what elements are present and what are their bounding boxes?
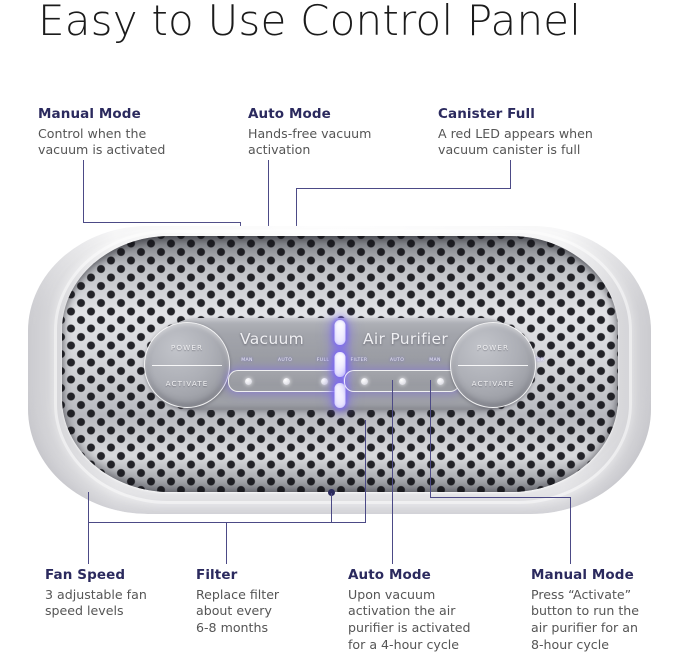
- control-panel: POWER ACTIVATE Vacuum MAN AUTO FULL Air …: [152, 318, 528, 410]
- purifier-caption-filter: FILTER: [351, 358, 368, 363]
- knob-divider: [458, 365, 528, 366]
- vacuum-led-full: [321, 378, 328, 385]
- air-purifier-power-activate-button[interactable]: POWER ACTIVATE: [450, 322, 536, 408]
- callout-body: Replace filter about every 6-8 months: [196, 587, 336, 637]
- vacuum-indicator-strip[interactable]: [228, 370, 344, 392]
- callout-heading: Auto Mode: [248, 107, 428, 122]
- callout-filter-bottom: Filter Replace filter about every 6-8 mo…: [196, 568, 336, 637]
- activate-label: ACTIVATE: [451, 379, 535, 388]
- leader-line-canister-full-top: [296, 188, 511, 189]
- vacuum-section-label: Vacuum: [240, 330, 304, 348]
- callout-manual-mode-top: Manual Mode Control when the vacuum is a…: [38, 107, 238, 159]
- callout-body: Control when the vacuum is activated: [38, 126, 238, 159]
- callout-body: A red LED appears when vacuum canister i…: [438, 126, 648, 159]
- vacuum-led-auto: [283, 378, 290, 385]
- leader-line-fan-speed: [88, 492, 89, 564]
- vacuum-indicator-caption-man: MAN: [241, 358, 253, 363]
- leader-line-manual-mode-bottom: [430, 497, 571, 498]
- callout-heading: Fan Speed: [45, 568, 205, 583]
- air-purifier-indicator-strip[interactable]: [344, 370, 460, 392]
- vacuum-led-man: [245, 378, 252, 385]
- callout-heading: Manual Mode: [531, 568, 679, 583]
- callout-auto-mode-top: Auto Mode Hands-free vacuum activation: [248, 107, 428, 159]
- callout-body: 3 adjustable fan speed levels: [45, 587, 205, 620]
- callout-canister-full-top: Canister Full A red LED appears when vac…: [438, 107, 648, 159]
- power-label: POWER: [145, 343, 229, 352]
- page-title: Easy to Use Control Panel: [38, 0, 581, 45]
- callout-heading: Filter: [196, 568, 336, 583]
- callout-heading: Manual Mode: [38, 107, 238, 122]
- purifier-led-filter: [361, 378, 368, 385]
- purifier-caption-auto: AUTO: [390, 358, 404, 363]
- purifier-led-man: [437, 378, 444, 385]
- leader-line-canister-full-top: [510, 160, 511, 188]
- leader-line-manual-mode-bottom: [430, 380, 431, 497]
- callout-heading: Auto Mode: [348, 568, 518, 583]
- knob-divider: [152, 365, 222, 366]
- callout-body: Upon vacuum activation the air purifier …: [348, 587, 518, 653]
- callout-heading: Canister Full: [438, 107, 648, 122]
- fan-speed-segment: [335, 383, 346, 408]
- fan-speed-segment: [335, 320, 346, 345]
- leader-line-manual-mode-top: [83, 160, 84, 222]
- purifier-caption-man: MAN: [429, 358, 441, 363]
- fan-speed-segment: [335, 352, 346, 377]
- air-purifier-section-label: Air Purifier: [363, 330, 448, 348]
- fan-speed-indicator[interactable]: [334, 320, 347, 408]
- leader-line-fan-speed: [331, 493, 332, 522]
- leader-line-filter: [226, 522, 227, 564]
- leader-line-filter: [226, 522, 366, 523]
- vacuum-indicator-caption-auto: AUTO: [278, 358, 292, 363]
- callout-fan-speed-bottom: Fan Speed 3 adjustable fan speed levels: [45, 568, 205, 620]
- air-purifier-vacuum-device: POWER ACTIVATE Vacuum MAN AUTO FULL Air …: [0, 218, 679, 518]
- callout-manual-mode-bottom: Manual Mode Press “Activate” button to r…: [531, 568, 679, 653]
- power-label: POWER: [451, 343, 535, 352]
- leader-line-manual-mode-bottom: [570, 497, 571, 564]
- leader-line-auto-mode-bottom: [392, 380, 393, 564]
- vacuum-indicator-caption-full: FULL: [317, 358, 330, 363]
- callout-body: Press “Activate” button to run the air p…: [531, 587, 679, 653]
- callout-body: Hands-free vacuum activation: [248, 126, 428, 159]
- activate-label: ACTIVATE: [145, 379, 229, 388]
- purifier-led-auto: [399, 378, 406, 385]
- vacuum-power-activate-button[interactable]: POWER ACTIVATE: [144, 322, 230, 408]
- leader-line-filter: [365, 420, 366, 523]
- callout-auto-mode-bottom: Auto Mode Upon vacuum activation the air…: [348, 568, 518, 653]
